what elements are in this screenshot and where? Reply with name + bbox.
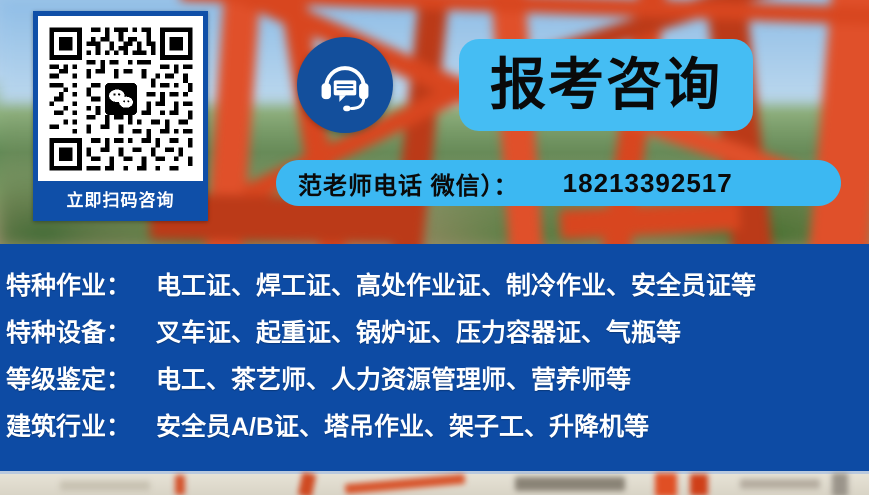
category-name: 等级鉴定： [6,360,156,396]
category-items: 电工证、焊工证、高处作业证、制冷作业、安全员证等 [156,266,756,302]
category-name: 建筑行业： [6,407,156,443]
category-row-construction-industry: 建筑行业： 安全员A/B证、塔吊作业、架子工、升降机等 [6,407,869,454]
contact-label: 范老师电话 微信）： [298,166,519,201]
headset-chat-badge[interactable] [297,37,393,133]
category-name: 特种设备： [6,313,156,349]
category-items: 叉车证、起重证、锅炉证、压力容器证、气瓶等 [156,313,681,349]
panel-divider [0,471,869,474]
contact-phone-pill[interactable]: 范老师电话 微信）： 18213392517 [276,160,841,206]
page-title: 报考咨询 [490,57,722,113]
contact-phone-number[interactable]: 18213392517 [563,168,733,199]
wechat-qr-code-icon[interactable] [45,23,197,175]
promo-poster: 立即扫码咨询 报考咨询 范老师电话 微信）： 18213392517 [0,0,869,495]
category-row-grade-appraisal: 等级鉴定： 电工、茶艺师、人力资源管理师、营养师等 [6,360,869,407]
title-pill[interactable]: 报考咨询 [459,39,753,131]
qr-code-frame[interactable] [38,16,203,181]
headset-chat-icon [315,55,375,115]
category-name: 特种作业： [6,266,156,302]
category-row-special-equipment: 特种设备： 叉车证、起重证、锅炉证、压力容器证、气瓶等 [6,313,869,360]
qr-card[interactable]: 立即扫码咨询 [33,11,208,221]
category-items: 电工、茶艺师、人力资源管理师、营养师等 [156,360,631,396]
qr-caption: 立即扫码咨询 [38,181,203,216]
certificate-category-panel: 特种作业： 电工证、焊工证、高处作业证、制冷作业、安全员证等 特种设备： 叉车证… [0,244,869,471]
category-items: 安全员A/B证、塔吊作业、架子工、升降机等 [156,407,649,443]
background-photo-bottom [0,471,869,495]
category-row-special-operations: 特种作业： 电工证、焊工证、高处作业证、制冷作业、安全员证等 [6,266,869,313]
